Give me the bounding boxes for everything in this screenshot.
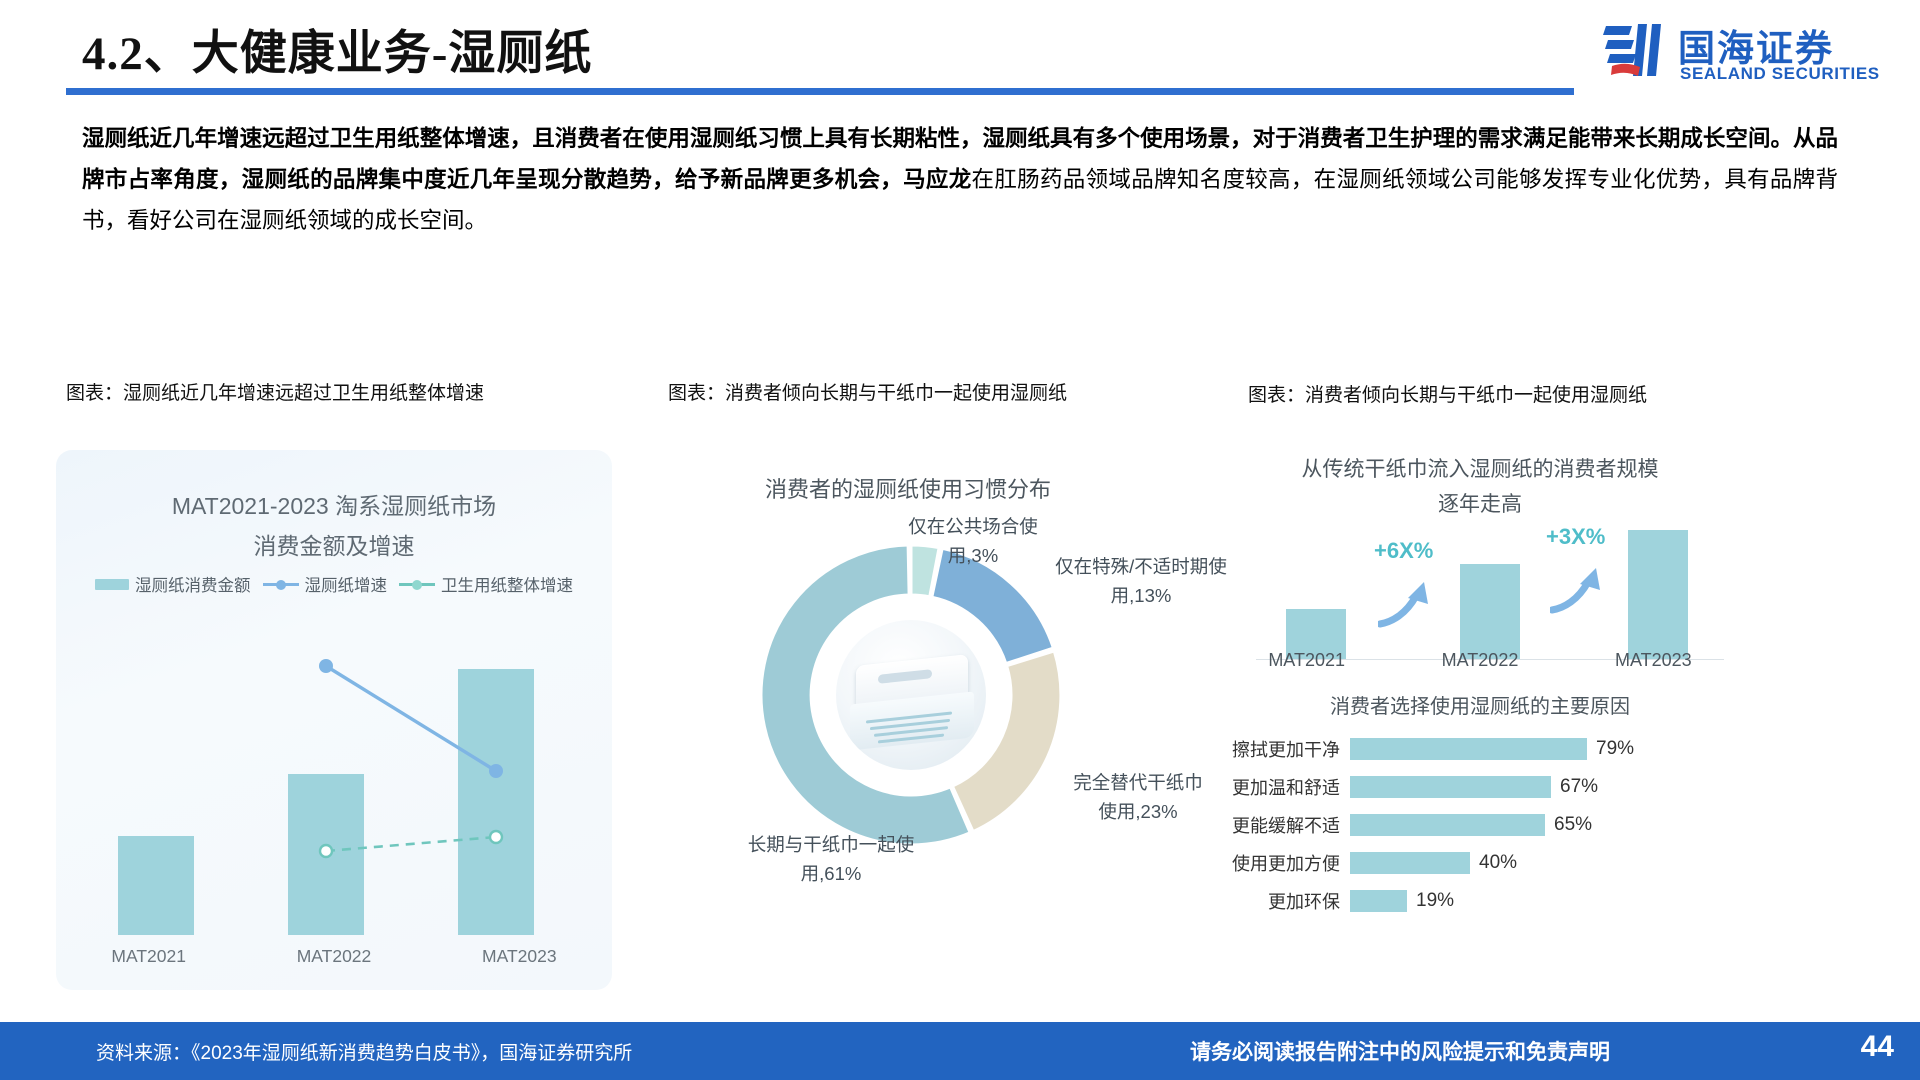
chart4-barwrap-1: 67% xyxy=(1350,776,1760,798)
chart4-row-0: 擦拭更加干净 79% xyxy=(1200,732,1760,765)
page-title: 4.2、大健康业务-湿厕纸 xyxy=(82,14,592,83)
chart4-label-4: 更加环保 xyxy=(1200,888,1350,914)
chart4-value-3: 40% xyxy=(1479,852,1517,874)
chart1-plot-area xyxy=(56,625,612,935)
chart1-x-axis: MAT2021 MAT2022 MAT2023 xyxy=(56,946,612,967)
donut-center-hole xyxy=(823,607,999,783)
chart4-bar-0 xyxy=(1350,738,1587,760)
footer-notice: 请务必阅读报告附注中的风险提示和免责声明 xyxy=(1190,1036,1610,1066)
page-footer: 资料来源：《2023年湿厕纸新消费趋势白皮书》，国海证券研究所 请务必阅读报告附… xyxy=(0,1022,1920,1080)
chart3-bar-mat2022 xyxy=(1460,564,1520,659)
chart3-subtitle: 逐年走高 xyxy=(1220,487,1740,522)
chart4-bar-1 xyxy=(1350,776,1551,798)
chart2-title: 消费者的湿厕纸使用习惯分布 xyxy=(628,472,1188,504)
summary-paragraph: 湿厕纸近几年增速远超过卫生用纸整体增速，且消费者在使用湿厕纸习惯上具有长期粘性，… xyxy=(82,118,1838,241)
chart4-barwrap-3: 40% xyxy=(1350,852,1760,874)
chart3-xtick-0: MAT2021 xyxy=(1220,650,1393,671)
caption-chart2: 图表：消费者倾向长期与干纸巾一起使用湿厕纸 xyxy=(668,378,1067,405)
donut-graphic: 仅在公共场合使用,3% 仅在特殊/不适时期使用,13% 完全替代干纸巾使用,23… xyxy=(746,530,1076,860)
chart4-bar-3 xyxy=(1350,852,1470,874)
chart3-xtick-1: MAT2022 xyxy=(1393,650,1566,671)
chart3-title-block: 从传统干纸巾流入湿厕纸的消费者规模 逐年走高 xyxy=(1220,452,1740,522)
chart4-bar-4 xyxy=(1350,890,1407,912)
chart1-title-block: MAT2021-2023 淘系湿厕纸市场 消费金额及增速 xyxy=(56,486,612,566)
footer-page-number: 44 xyxy=(1861,1030,1894,1064)
chart1-subtitle: 消费金额及增速 xyxy=(56,526,612,566)
footer-source: 资料来源：《2023年湿厕纸新消费趋势白皮书》，国海证券研究所 xyxy=(96,1038,632,1065)
chart3-bar-mat2023 xyxy=(1628,530,1688,659)
chart4-title: 消费者选择使用湿厕纸的主要原因 xyxy=(1200,690,1760,719)
legend-item-amount: 湿厕纸消费金额 xyxy=(95,572,251,596)
chart3-x-axis: MAT2021 MAT2022 MAT2023 xyxy=(1220,650,1740,671)
chart1-xtick-2: MAT2023 xyxy=(427,946,612,967)
caption-chart3: 图表：消费者倾向长期与干纸巾一起使用湿厕纸 xyxy=(1248,380,1647,407)
chart1-xtick-1: MAT2022 xyxy=(241,946,426,967)
caption-chart1: 图表：湿厕纸近几年增速远超过卫生用纸整体增速 xyxy=(66,378,484,405)
legend-label-tissue-growth: 卫生用纸整体增速 xyxy=(441,572,573,596)
donut-label-long-term: 长期与干纸巾一起使用,61% xyxy=(736,830,926,888)
chart3-xtick-2: MAT2023 xyxy=(1567,650,1740,671)
chart4-label-1: 更加温和舒适 xyxy=(1200,774,1350,800)
legend-line-swatch-green-icon xyxy=(399,579,435,590)
chart1-legend: 湿厕纸消费金额 湿厕纸增速 卫生用纸整体增速 xyxy=(56,572,612,596)
chart-reasons-for-use: 消费者选择使用湿厕纸的主要原因 擦拭更加干净 79% 更加温和舒适 67% 更能… xyxy=(1200,690,1760,990)
chart4-row-3: 使用更加方便 40% xyxy=(1200,846,1760,879)
chart4-label-0: 擦拭更加干净 xyxy=(1200,736,1350,762)
wet-wipes-product-image xyxy=(836,620,986,770)
chart3-title: 从传统干纸巾流入湿厕纸的消费者规模 xyxy=(1220,452,1740,487)
growth-arrow-1-icon xyxy=(1378,578,1436,628)
legend-item-wet-growth: 湿厕纸增速 xyxy=(263,572,388,596)
chart4-value-0: 79% xyxy=(1596,738,1634,760)
legend-item-tissue-growth: 卫生用纸整体增速 xyxy=(399,572,573,596)
chart4-row-4: 更加环保 19% xyxy=(1200,884,1760,917)
chart4-bar-2 xyxy=(1350,814,1545,836)
chart4-barwrap-0: 79% xyxy=(1350,738,1760,760)
title-divider xyxy=(66,88,1574,95)
chart4-row-2: 更能缓解不适 65% xyxy=(1200,808,1760,841)
chart4-barwrap-2: 65% xyxy=(1350,814,1760,836)
chart-usage-habit-donut: 消费者的湿厕纸使用习惯分布 xyxy=(628,450,1188,990)
chart3-annotation-6x: +6X% xyxy=(1374,538,1433,564)
company-logo: 国海证券 SEALAND SECURITIES xyxy=(1602,18,1902,92)
chart1-line-series xyxy=(56,625,612,935)
chart4-row-1: 更加温和舒适 67% xyxy=(1200,770,1760,803)
page-header: 4.2、大健康业务-湿厕纸 国海证券 SEALAND SECURITIES xyxy=(0,0,1920,112)
chart4-value-1: 67% xyxy=(1560,776,1598,798)
donut-label-full-replace: 完全替代干纸巾使用,23% xyxy=(1068,768,1208,826)
chart4-rows: 擦拭更加干净 79% 更加温和舒适 67% 更能缓解不适 65% 使用更加方便 xyxy=(1200,732,1760,922)
logo-english-name: SEALAND SECURITIES xyxy=(1680,64,1880,84)
donut-label-special: 仅在特殊/不适时期使用,13% xyxy=(1052,552,1230,610)
legend-line-swatch-blue-icon xyxy=(263,579,299,590)
legend-label-amount: 湿厕纸消费金额 xyxy=(135,572,251,596)
sealand-logo-mark xyxy=(1602,20,1668,82)
chart4-label-2: 更能缓解不适 xyxy=(1200,812,1350,838)
donut-label-public: 仅在公共场合使用,3% xyxy=(898,512,1048,570)
chart1-xtick-0: MAT2021 xyxy=(56,946,241,967)
chart1-title: MAT2021-2023 淘系湿厕纸市场 xyxy=(56,486,612,526)
chart4-value-2: 65% xyxy=(1554,814,1592,836)
chart4-value-4: 19% xyxy=(1416,890,1454,912)
legend-bar-swatch-icon xyxy=(95,579,129,590)
chart3-annotation-3x: +3X% xyxy=(1546,524,1605,550)
chart4-barwrap-4: 19% xyxy=(1350,890,1760,912)
legend-label-wet-growth: 湿厕纸增速 xyxy=(305,572,388,596)
growth-arrow-2-icon xyxy=(1550,564,1608,614)
chart-taoxi-market: MAT2021-2023 淘系湿厕纸市场 消费金额及增速 湿厕纸消费金额 湿厕纸… xyxy=(56,450,612,990)
chart4-label-3: 使用更加方便 xyxy=(1200,850,1350,876)
chart3-plot-area: +6X% +3X% xyxy=(1256,530,1724,660)
chart-consumer-inflow: 从传统干纸巾流入湿厕纸的消费者规模 逐年走高 +6X% +3X% xyxy=(1220,452,1740,622)
